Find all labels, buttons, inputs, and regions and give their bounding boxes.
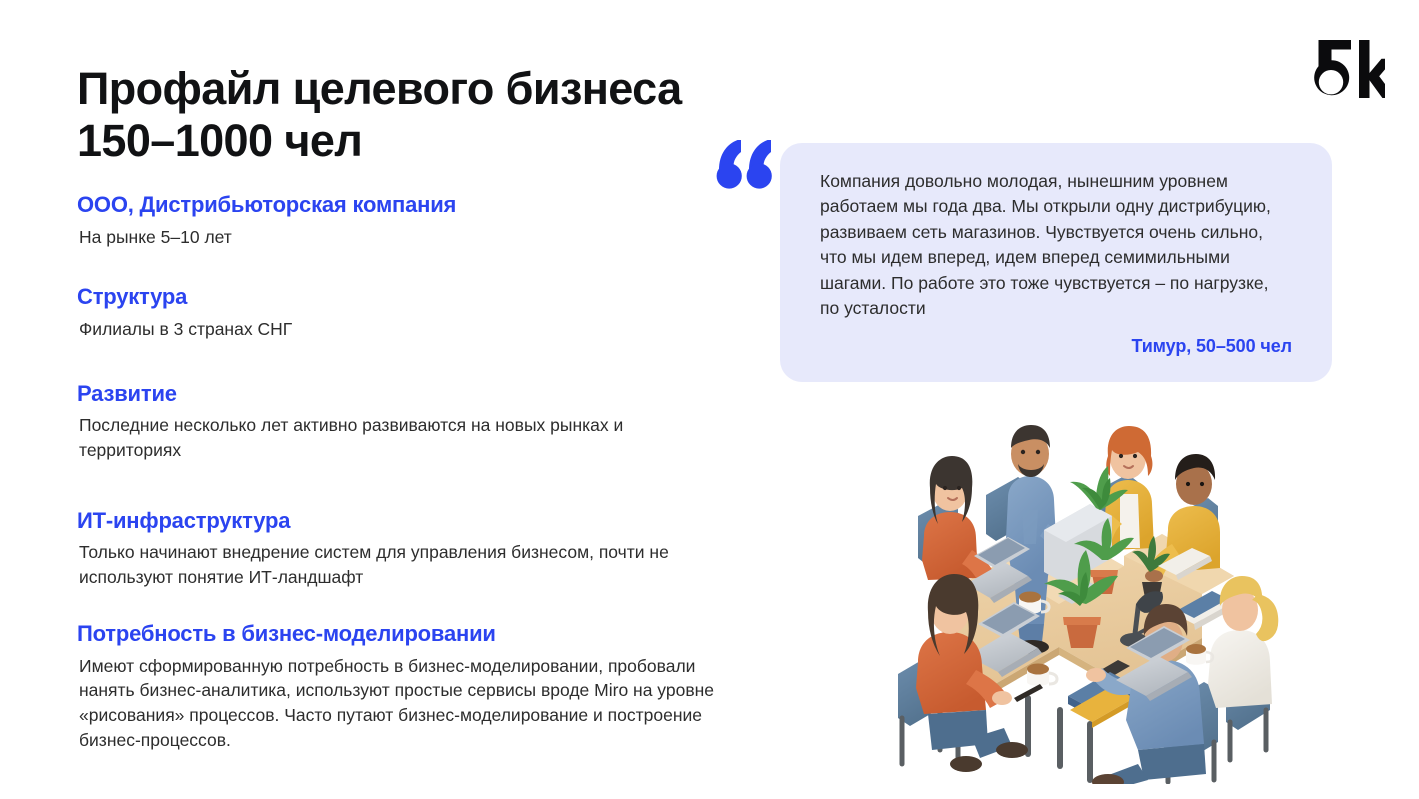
section-heading: ООО, Дистрибьюторская компания (77, 191, 717, 219)
section-heading: ИТ-инфраструктура (77, 507, 717, 535)
quote-text: Компания довольно молодая, нынешним уров… (820, 169, 1292, 321)
section-modeling-need: Потребность в бизнес-моделировании Имеют… (77, 620, 717, 753)
slide-root: Профайл целевого бизнеса 150–1000 чел ОО… (0, 0, 1419, 799)
quote-card: Компания довольно молодая, нынешним уров… (780, 143, 1332, 382)
section-body: Последние несколько лет активно развиваю… (77, 413, 717, 463)
section-heading: Потребность в бизнес-моделировании (77, 620, 717, 648)
section-heading: Развитие (77, 380, 717, 408)
section-growth: Развитие Последние несколько лет активно… (77, 380, 717, 463)
section-it-infrastructure: ИТ-инфраструктура Только начинают внедре… (77, 507, 717, 590)
section-body: Только начинают внедрение систем для упр… (77, 540, 717, 590)
quote-author: Тимур, 50–500 чел (1132, 336, 1293, 357)
brand-logo (1309, 36, 1385, 106)
section-company: ООО, Дистрибьюторская компания На рынке … (77, 191, 717, 249)
team-meeting-illustration (862, 398, 1298, 784)
section-body: На рынке 5–10 лет (77, 225, 717, 250)
quote-open-icon (715, 140, 773, 192)
section-body: Имеют сформированную потребность в бизне… (77, 654, 717, 753)
profile-sections: ООО, Дистрибьюторская компания На рынке … (77, 191, 717, 753)
section-structure: Структура Филиалы в 3 странах СНГ (77, 283, 717, 341)
section-body: Филиалы в 3 странах СНГ (77, 317, 717, 342)
section-heading: Структура (77, 283, 717, 311)
